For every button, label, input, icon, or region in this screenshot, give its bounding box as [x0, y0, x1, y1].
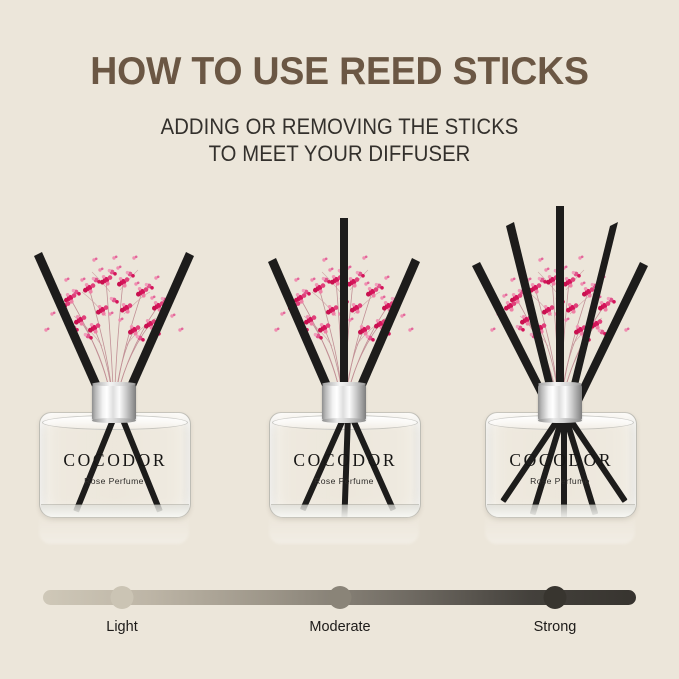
subtitle-line-2: TO MEET YOUR DIFFUSER [34, 140, 645, 167]
diffuser-strong: COCODOR Rose Perfume [452, 196, 668, 556]
page-title: HOW TO USE REED STICKS [14, 0, 666, 93]
bottle-glass [39, 412, 191, 518]
bottle-base [271, 505, 419, 517]
bottle-base [41, 505, 189, 517]
diffuser-moderate: COCODOR Rose Perfume [236, 196, 452, 556]
bottle-collar [538, 384, 582, 420]
bottle-glass [485, 412, 637, 518]
diffuser-bottle: COCODOR Rose Perfume [39, 384, 189, 532]
header: HOW TO USE REED STICKS ADDING OR REMOVIN… [0, 0, 679, 168]
slider-knob-strong[interactable] [544, 586, 567, 609]
slider-knob-light[interactable] [111, 586, 134, 609]
slider-label-strong: Strong [534, 619, 577, 635]
slider-label-moderate: Moderate [309, 619, 370, 635]
bottle-base [487, 505, 635, 517]
slider-label-light: Light [106, 619, 137, 635]
bottle-collar [322, 384, 366, 420]
diffuser-bottle: COCODOR Rose Perfume [485, 384, 635, 532]
intensity-slider[interactable]: Light Moderate Strong [0, 570, 679, 650]
diffuser-bottle: COCODOR Rose Perfume [269, 384, 419, 532]
submerged-sticks [486, 413, 636, 517]
submerged-sticks [270, 413, 420, 517]
product-row: COCODOR Rose Perfume [0, 196, 679, 556]
bottle-glass [269, 412, 421, 518]
slider-knob-moderate[interactable] [329, 586, 352, 609]
infographic-page: HOW TO USE REED STICKS ADDING OR REMOVIN… [0, 0, 679, 679]
page-subtitle: ADDING OR REMOVING THE STICKS TO MEET YO… [34, 93, 645, 168]
diffuser-light: COCODOR Rose Perfume [6, 196, 222, 556]
bottle-collar [92, 384, 136, 420]
submerged-sticks [40, 413, 190, 517]
subtitle-line-1: ADDING OR REMOVING THE STICKS [34, 113, 645, 140]
